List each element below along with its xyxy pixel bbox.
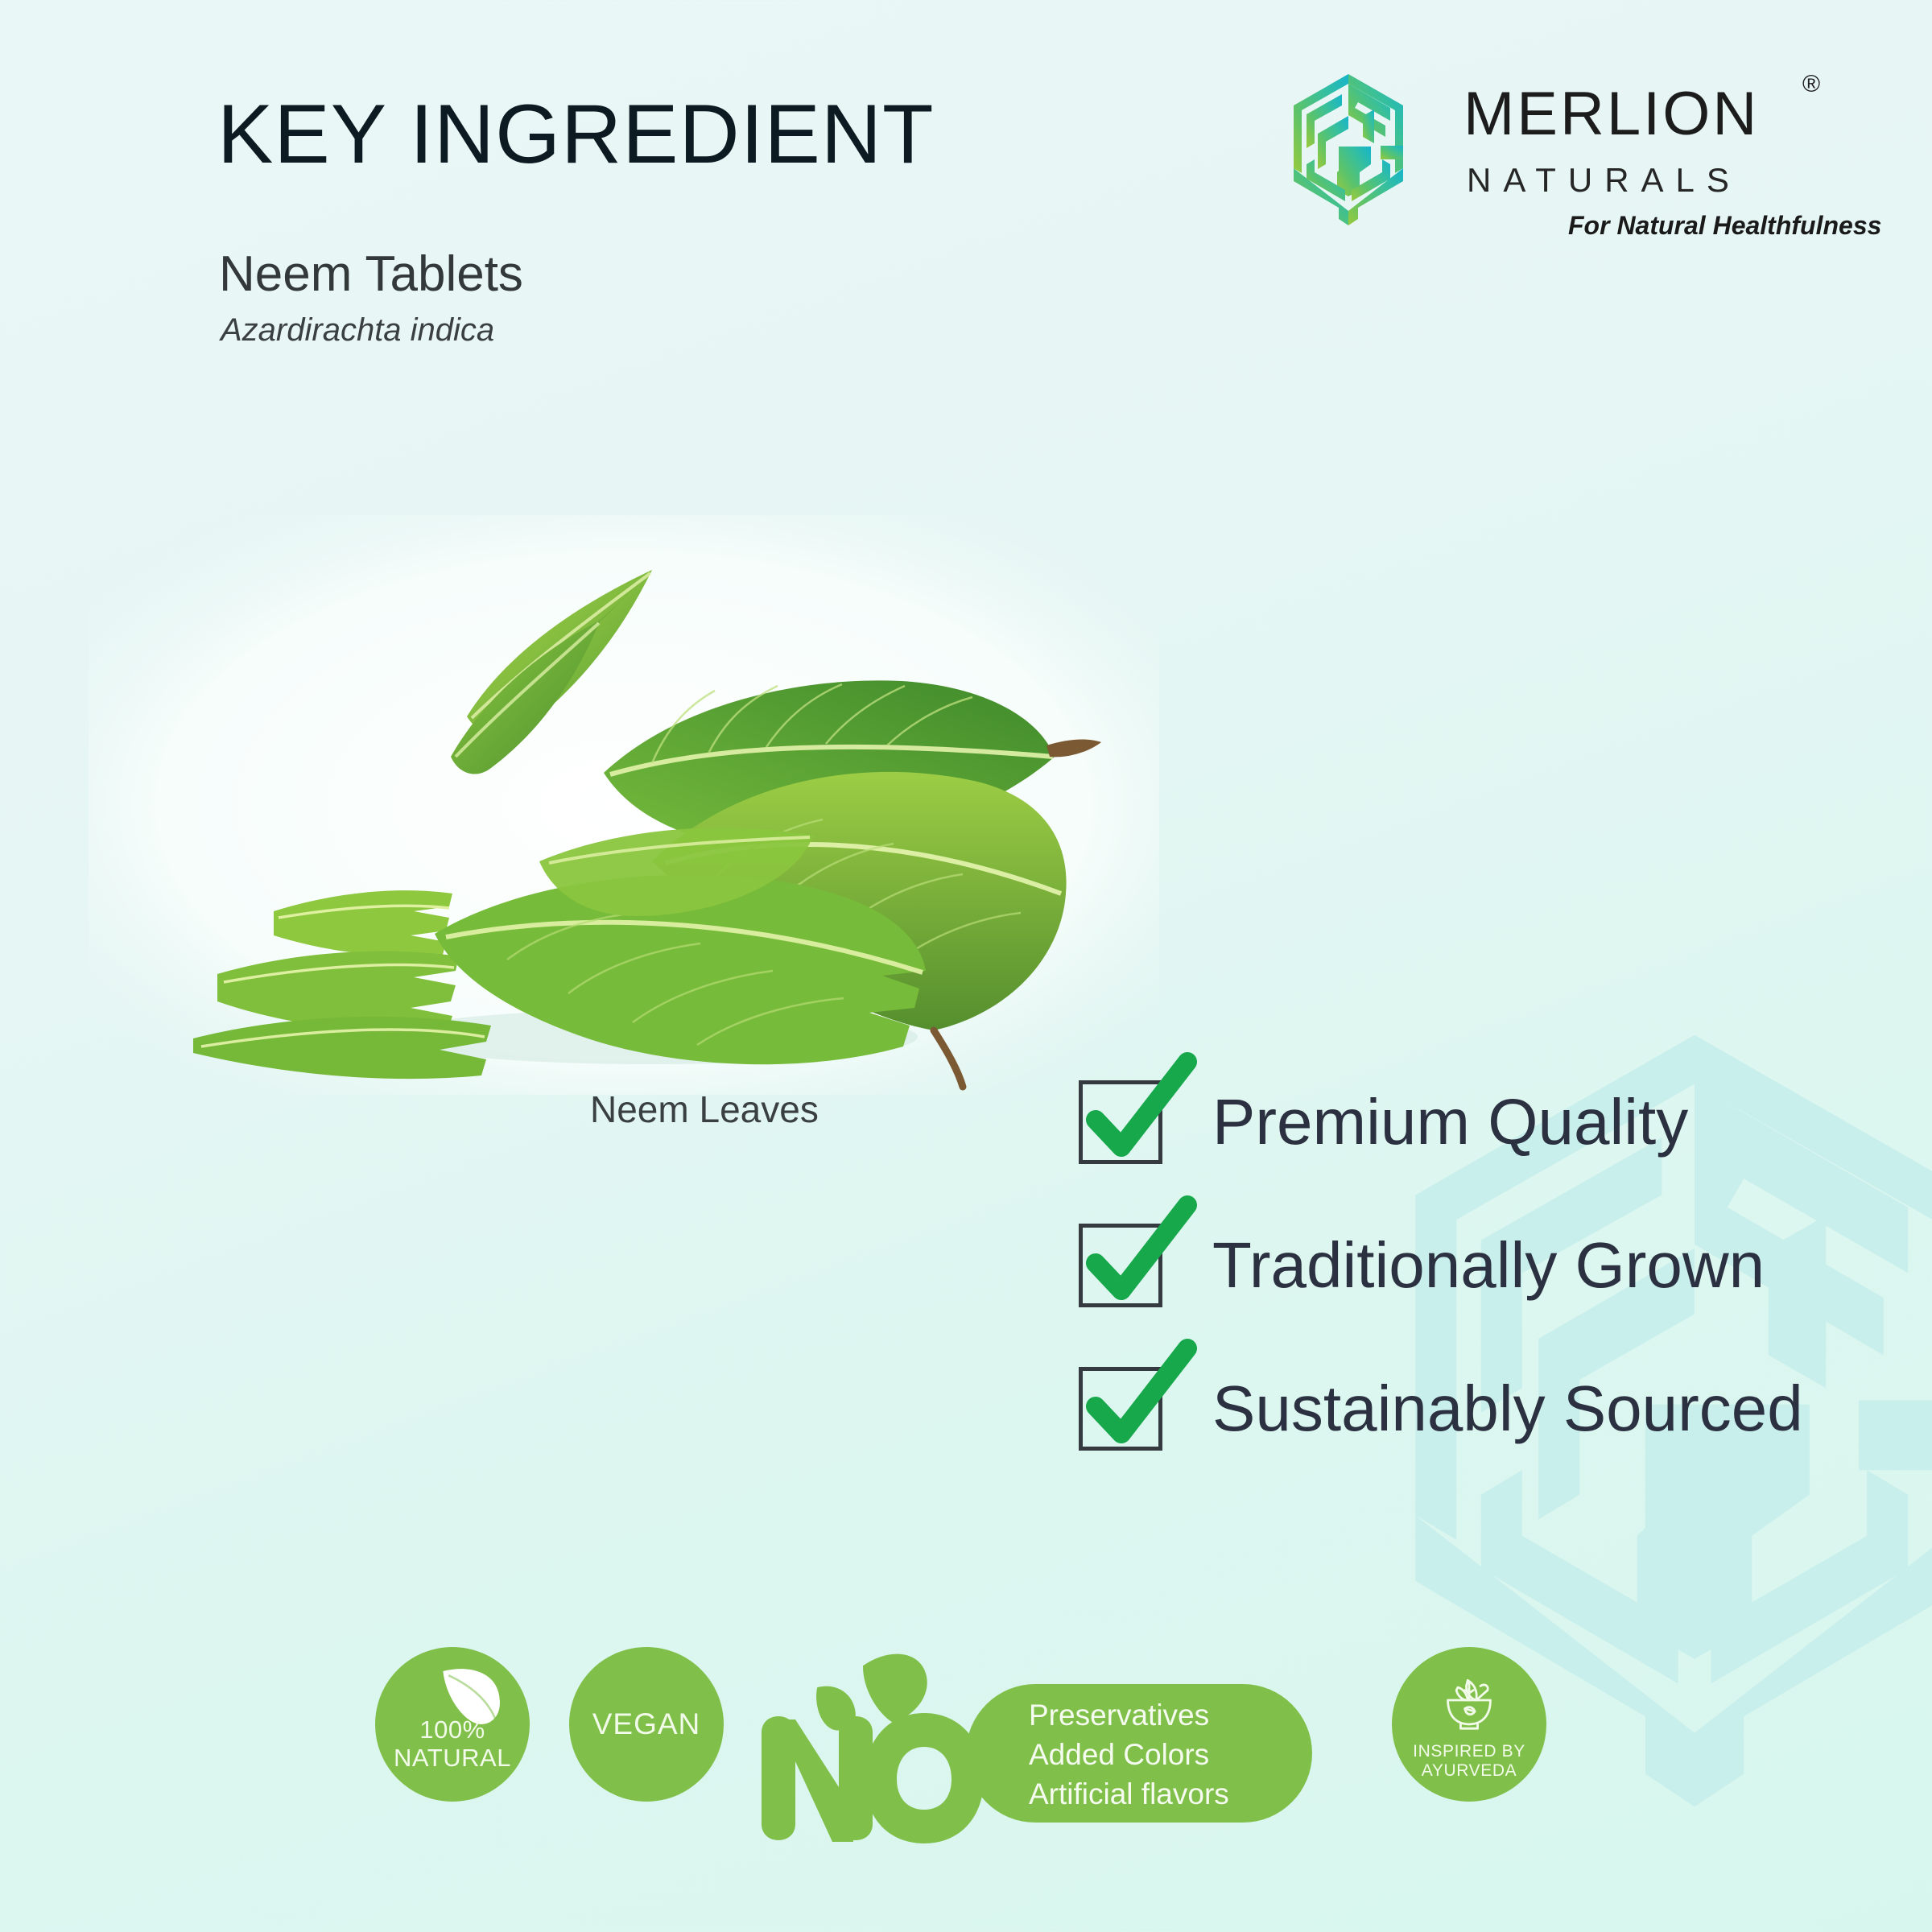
registered-trademark-icon: ® — [1802, 72, 1820, 97]
badge-line-2: AYURVEDA — [1392, 1761, 1546, 1781]
checklist-item-label: Premium Quality — [1212, 1090, 1688, 1154]
benefits-checklist: Premium Quality Traditionally Grown Sust… — [1079, 1051, 1884, 1480]
badge-line-1: 100% — [375, 1716, 530, 1744]
checklist-item[interactable]: Sustainably Sourced — [1079, 1337, 1884, 1480]
checkbox-icon[interactable] — [1079, 1367, 1162, 1451]
brand-tagline: For Natural Healthfulness — [1568, 213, 1881, 238]
badge-line-2: NATURAL — [375, 1744, 530, 1773]
checklist-item[interactable]: Traditionally Grown — [1079, 1194, 1884, 1337]
badge-100-natural: 100% NATURAL — [375, 1647, 530, 1802]
badge-inspired-by-ayurveda: INSPIRED BY AYURVEDA — [1392, 1647, 1546, 1802]
checkbox-icon[interactable] — [1079, 1224, 1162, 1307]
no-additives-list: Preservatives Added Colors Artificial fl… — [1029, 1695, 1319, 1814]
badge-line-1: INSPIRED BY — [1392, 1742, 1546, 1761]
checklist-item-label: Sustainably Sourced — [1212, 1377, 1803, 1441]
botanical-name: Azardirachta indica — [221, 314, 494, 346]
checklist-item[interactable]: Premium Quality — [1079, 1051, 1884, 1194]
badge-label: VEGAN — [592, 1707, 701, 1741]
badge-row: 100% NATURAL VEGAN — [0, 1626, 1932, 1868]
checkbox-icon[interactable] — [1079, 1080, 1162, 1164]
infographic-canvas: KEY INGREDIENT Neem Tablets Azardirachta… — [0, 0, 1932, 1932]
brand-name: MERLION — [1463, 84, 1759, 145]
page-title: KEY INGREDIENT — [217, 93, 934, 176]
mortar-pestle-icon — [1434, 1665, 1505, 1736]
no-item: Preservatives — [1029, 1695, 1319, 1735]
no-item: Artificial flavors — [1029, 1774, 1319, 1814]
brand-sub-name: NATURALS — [1467, 163, 1741, 197]
no-item: Added Colors — [1029, 1735, 1319, 1774]
badge-vegan: VEGAN — [569, 1647, 724, 1802]
product-name: Neem Tablets — [219, 250, 523, 299]
no-word-with-leaves-icon — [749, 1642, 990, 1843]
hexagon-maze-icon — [1264, 69, 1433, 230]
brand-logo: MERLION ® NATURALS For Natural Healthful… — [1264, 63, 1827, 236]
checklist-item-label: Traditionally Grown — [1212, 1233, 1765, 1298]
badge-no-additives: Preservatives Added Colors Artificial fl… — [749, 1618, 1360, 1876]
photo-caption: Neem Leaves — [590, 1091, 819, 1128]
neem-leaves-photo — [89, 515, 1159, 1095]
